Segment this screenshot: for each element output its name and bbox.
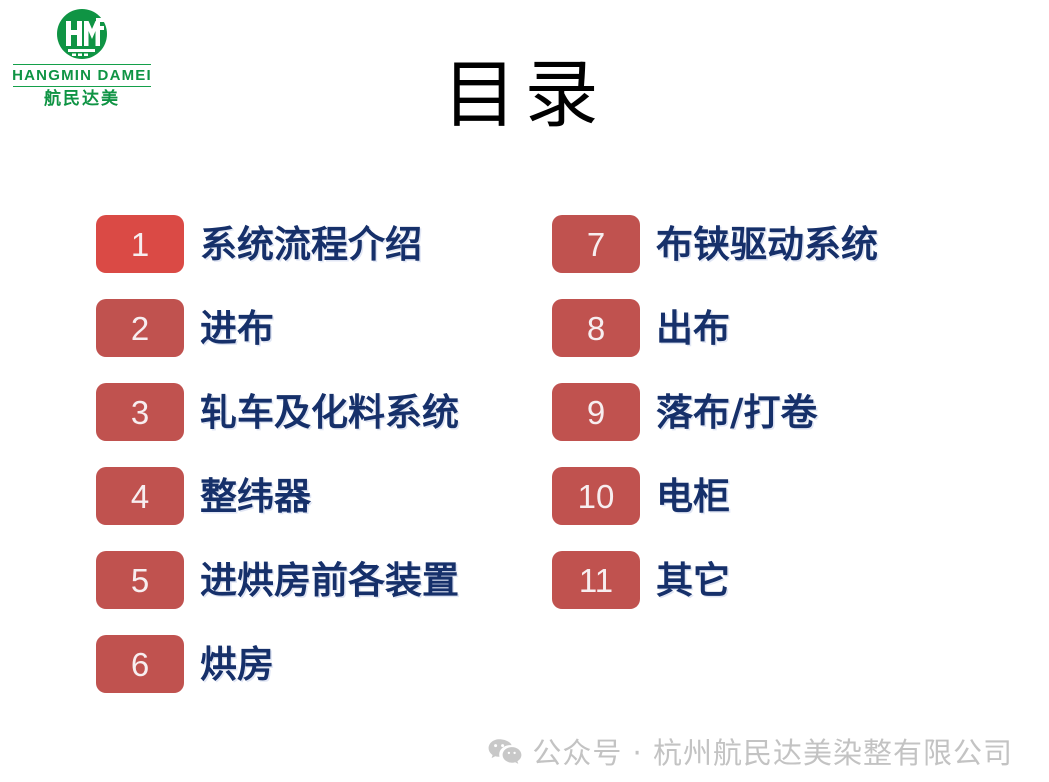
toc-left-column: 1 系统流程介绍 2 进布 3 轧车及化料系统 4 整纬器 5 进烘房前各装置 …: [96, 215, 536, 719]
presentation-slide: HANGMIN DAMEI 航民达美 目录 1 系统流程介绍 2 进布 3 轧车…: [0, 0, 1049, 782]
toc-item-label: 布铗驱动系统: [656, 226, 878, 263]
wechat-icon: [488, 738, 522, 768]
footer-watermark: 公众号 · 杭州航民达美染整有限公司: [0, 738, 1049, 768]
toc-item-3[interactable]: 3 轧车及化料系统: [96, 383, 536, 441]
toc-item-5[interactable]: 5 进烘房前各装置: [96, 551, 536, 609]
toc-item-1[interactable]: 1 系统流程介绍: [96, 215, 536, 273]
table-of-contents: 1 系统流程介绍 2 进布 3 轧车及化料系统 4 整纬器 5 进烘房前各装置 …: [0, 215, 1049, 695]
toc-number-badge: 9: [552, 383, 640, 441]
toc-item-2[interactable]: 2 进布: [96, 299, 536, 357]
toc-item-label: 进烘房前各装置: [200, 562, 459, 599]
toc-number-badge: 6: [96, 635, 184, 693]
toc-number-badge: 2: [96, 299, 184, 357]
toc-item-8[interactable]: 8 出布: [552, 299, 992, 357]
toc-item-label: 轧车及化料系统: [200, 394, 459, 431]
toc-item-label: 整纬器: [200, 478, 311, 515]
toc-item-11[interactable]: 11 其它: [552, 551, 992, 609]
footer-text: 公众号 · 杭州航民达美染整有限公司: [532, 739, 1013, 768]
toc-item-label: 其它: [656, 562, 730, 599]
hangmin-damei-emblem-icon: [54, 8, 110, 62]
toc-right-column: 7 布铗驱动系统 8 出布 9 落布/打卷 10 电柜 11 其它: [552, 215, 992, 635]
toc-item-label: 落布/打卷: [656, 394, 818, 431]
toc-number-badge: 10: [552, 467, 640, 525]
toc-item-label: 电柜: [656, 478, 730, 515]
toc-number-badge: 11: [552, 551, 640, 609]
toc-item-label: 烘房: [200, 646, 274, 683]
toc-item-label: 系统流程介绍: [200, 226, 422, 263]
toc-item-label: 出布: [656, 310, 730, 347]
toc-number-badge: 3: [96, 383, 184, 441]
toc-item-6[interactable]: 6 烘房: [96, 635, 536, 693]
toc-item-4[interactable]: 4 整纬器: [96, 467, 536, 525]
toc-number-badge: 7: [552, 215, 640, 273]
toc-number-badge: 4: [96, 467, 184, 525]
toc-item-9[interactable]: 9 落布/打卷: [552, 383, 992, 441]
toc-number-badge: 1: [96, 215, 184, 273]
toc-item-label: 进布: [200, 310, 274, 347]
page-title: 目录: [0, 58, 1049, 132]
toc-number-badge: 8: [552, 299, 640, 357]
toc-item-10[interactable]: 10 电柜: [552, 467, 992, 525]
toc-item-7[interactable]: 7 布铗驱动系统: [552, 215, 992, 273]
toc-number-badge: 5: [96, 551, 184, 609]
